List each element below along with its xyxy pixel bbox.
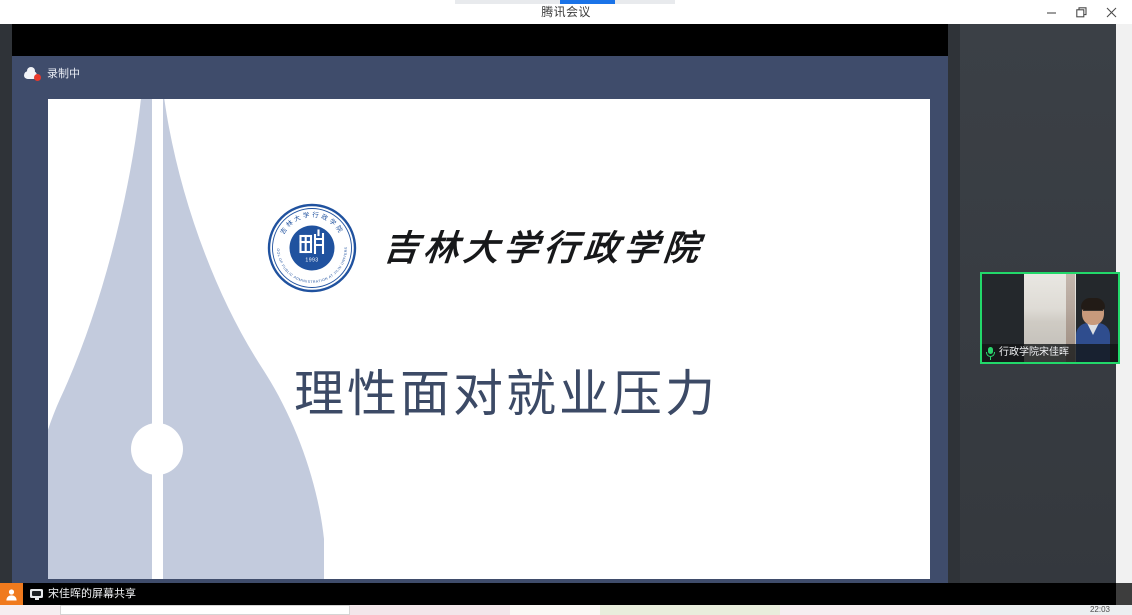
- fountain-pen-nib-graphic: [48, 99, 354, 579]
- share-letterbox-top: [12, 24, 948, 56]
- microphone-on-icon: [986, 347, 995, 360]
- taskbar-item-6[interactable]: [780, 605, 980, 615]
- window-titlebar: 腾讯会议: [0, 0, 1132, 24]
- taskbar-item-4[interactable]: [510, 605, 600, 615]
- slide-title: 理性面对就业压力: [294, 354, 718, 426]
- filmstrip-left-gutter: [948, 24, 960, 607]
- share-status-label: 宋佳晖的屏幕共享: [48, 588, 136, 601]
- minimize-icon[interactable]: [1036, 1, 1066, 23]
- status-bar-right-cap: [1116, 583, 1132, 605]
- taskbar-item-5[interactable]: [600, 605, 780, 615]
- presentation-slide: 1993 吉林大学行政学院 SCHOOL OF PUBLIC ADMINISTR…: [48, 99, 930, 579]
- cloud-recording-icon: [24, 68, 41, 81]
- participant-name-bar: 行政学院宋佳晖: [982, 344, 1118, 362]
- taskbar-item-2[interactable]: [60, 605, 350, 615]
- recording-label: 录制中: [47, 68, 80, 81]
- recording-badge[interactable]: 录制中: [24, 66, 80, 82]
- close-icon[interactable]: [1096, 1, 1126, 23]
- screen-root: 腾讯会议: [0, 0, 1132, 615]
- shared-screen-region[interactable]: 录制中: [12, 56, 948, 584]
- monitor-share-icon: [30, 589, 43, 600]
- participant-name: 行政学院宋佳晖: [999, 347, 1069, 359]
- restore-icon[interactable]: [1066, 1, 1096, 23]
- school-name-calligraphy: 吉林大学行政学院: [381, 220, 706, 271]
- taskbar-clock[interactable]: 22:03: [1090, 605, 1110, 615]
- university-seal-logo: 1993 吉林大学行政学院 SCHOOL OF PUBLIC ADMINISTR…: [267, 203, 357, 293]
- window-title: 腾讯会议: [0, 3, 1132, 20]
- seal-year: 1993: [305, 258, 318, 264]
- participant-video-tile[interactable]: 行政学院宋佳晖: [980, 272, 1120, 364]
- window-controls: [1036, 0, 1126, 24]
- left-gutter: [0, 24, 12, 584]
- share-status-bar: 宋佳晖的屏幕共享: [0, 583, 1132, 605]
- os-taskbar[interactable]: 22:03: [0, 605, 1132, 615]
- meeting-window: 录制中: [0, 24, 1132, 607]
- user-avatar-icon[interactable]: [0, 583, 23, 605]
- taskbar-item-3[interactable]: [350, 605, 510, 615]
- taskbar-item-1[interactable]: [0, 605, 60, 615]
